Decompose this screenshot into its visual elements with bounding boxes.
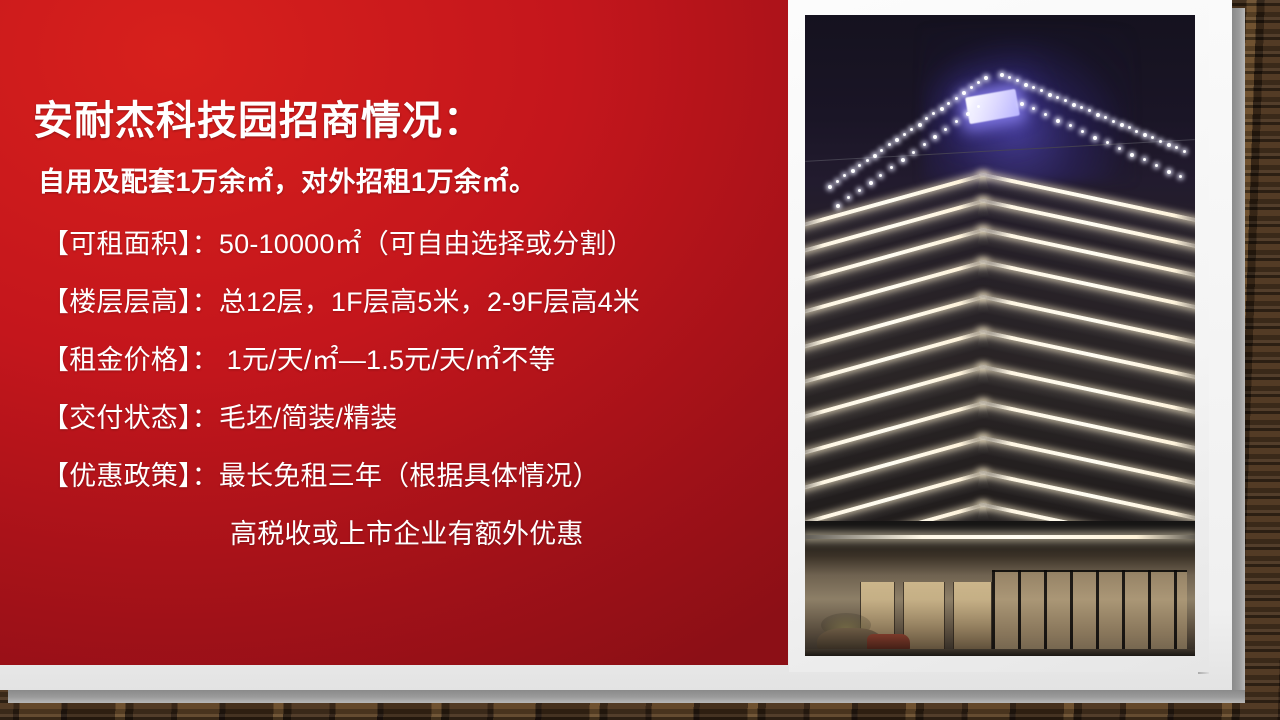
red-content-panel: 安耐杰科技园招商情况： 自用及配套1万余㎡，对外招租1万余㎡。 【可租面积】：5…	[0, 0, 788, 665]
ground-pavement	[805, 649, 1195, 656]
list-item: 【优惠政策】：最长免租三年（根据具体情况）	[42, 447, 782, 505]
list-item: 高税收或上市企业有额外优惠	[42, 505, 782, 563]
building-night-photo	[805, 15, 1195, 656]
glass-curtain-wall	[992, 570, 1187, 653]
list-item: 【可租面积】：50-10000㎡（可自由选择或分割）	[42, 215, 782, 273]
list-item: 【交付状态】：毛坯/简装/精装	[42, 389, 782, 447]
photo-frame	[789, 0, 1209, 672]
detail-list: 【可租面积】：50-10000㎡（可自由选择或分割） 【楼层层高】：总12层，1…	[42, 215, 782, 563]
list-item: 【租金价格】： 1元/天/㎡—1.5元/天/㎡不等	[42, 331, 782, 389]
parked-car	[867, 634, 910, 650]
lobby-window	[953, 582, 992, 652]
podium-ground-floor	[805, 521, 1195, 656]
subtitle-area-summary: 自用及配套1万余㎡，对外招租1万余㎡。	[38, 160, 537, 199]
canopy-led-strip	[805, 535, 1195, 539]
slide-shadow-bottom	[8, 690, 1245, 703]
list-item: 【楼层层高】：总12层，1F层高5米，2-9F层高4米	[42, 273, 782, 331]
slide-backdrop: 安耐杰科技园招商情况： 自用及配套1万余㎡，对外招租1万余㎡。 【可租面积】：5…	[0, 0, 1280, 720]
sky-glow	[922, 28, 1133, 182]
slide-shadow-right	[1232, 8, 1245, 698]
page-title: 安耐杰科技园招商情况：	[33, 88, 484, 146]
